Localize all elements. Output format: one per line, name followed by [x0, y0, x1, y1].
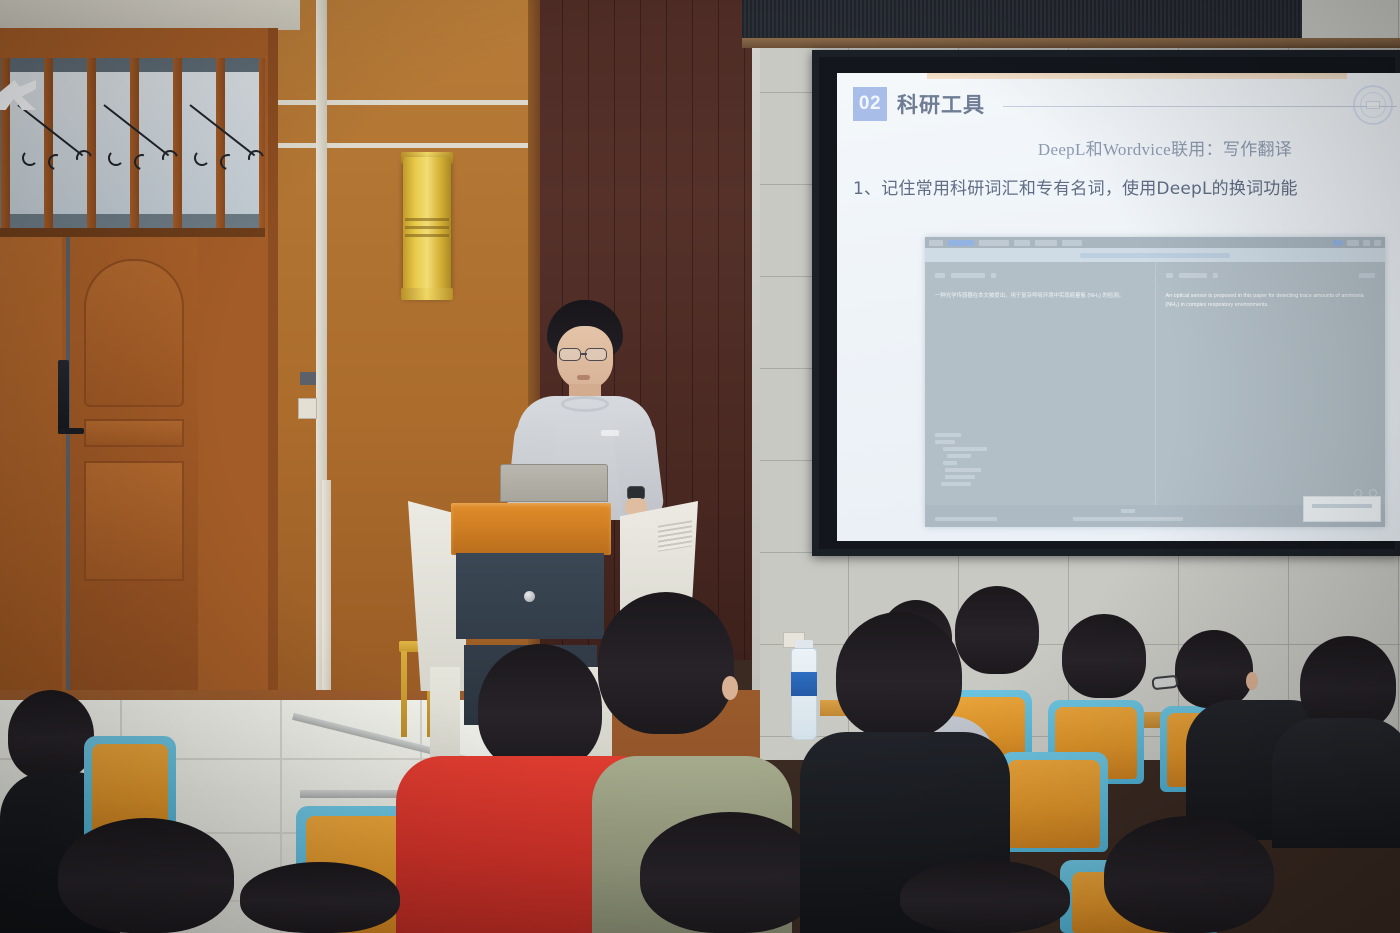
iron-scroll-curl	[108, 150, 124, 166]
transom-mullion	[1, 58, 10, 228]
transom-window	[0, 58, 265, 228]
transom-mullion	[44, 58, 53, 228]
audience-ear	[1246, 672, 1258, 690]
wall-trim-upper	[268, 100, 560, 105]
account-chip[interactable]	[1333, 240, 1343, 246]
slide-bullet-1: 1、记住常用科研词汇和专有名词，使用DeepL的换词功能	[853, 174, 1397, 199]
audience-head	[1062, 614, 1146, 698]
stool-leg-left	[401, 651, 407, 737]
glossary-item-6[interactable]	[941, 482, 971, 486]
grille-frame	[742, 38, 1400, 48]
door-arch-panel	[84, 259, 184, 407]
footer-center-note	[1073, 517, 1183, 521]
ceiling-soffit	[0, 0, 300, 30]
transom-mullion	[259, 58, 265, 228]
target-pane[interactable]: An optical sensor is proposed in this pa…	[1156, 262, 1386, 527]
notice-text	[1080, 253, 1230, 258]
transom-glass-pane	[182, 72, 216, 214]
transom-glass-pane	[139, 72, 173, 214]
iron-scroll-curl	[22, 150, 38, 166]
sweater-collar	[561, 396, 609, 412]
seal-inner-ring	[1360, 92, 1386, 118]
app-footer	[925, 505, 1385, 527]
door-mid-panel	[84, 419, 184, 447]
bottle-label	[791, 672, 817, 696]
sweater-logo	[601, 430, 619, 436]
sconce-band-2	[405, 226, 449, 229]
projection-screen-frame: 02 科研工具 DeepL和Wordvice联用：写作翻译 1、记住常用科研词汇…	[812, 50, 1400, 556]
glossary-item-5[interactable]	[945, 475, 975, 479]
target-language-label	[1179, 273, 1207, 278]
slide-header: 02 科研工具	[853, 87, 1397, 121]
tab-login[interactable]	[1062, 240, 1082, 246]
audience-glasses	[1151, 675, 1178, 691]
door-lower-panel	[84, 461, 184, 581]
room-background: 02 科研工具 DeepL和Wordvice联用：写作翻译 1、记住常用科研词汇…	[0, 0, 1400, 933]
glossary-item-2[interactable]	[947, 454, 971, 458]
deepl-app-screenshot: 一种光学传感器在本文被提出，用于复杂呼吸环境中实现痕量氨 (NH₃) 的检测。	[925, 237, 1385, 527]
presentation-slide: 02 科研工具 DeepL和Wordvice联用：写作翻译 1、记住常用科研词汇…	[837, 73, 1400, 541]
wood-plank	[718, 0, 719, 660]
transom-glass-pane	[96, 72, 130, 214]
audience-jacket	[1272, 718, 1400, 848]
wood-plank	[744, 0, 745, 660]
seat-back[interactable]	[1008, 760, 1100, 848]
door-side-panel	[0, 237, 62, 757]
glossary-suggestions	[935, 433, 1025, 489]
projection-screen: 02 科研工具 DeepL和Wordvice联用：写作翻译 1、记住常用科研词汇…	[837, 73, 1400, 541]
audience-head	[478, 644, 602, 772]
door-header-rail	[0, 228, 265, 237]
chevron-down-icon[interactable]	[991, 273, 996, 278]
app-titlebar	[925, 237, 1385, 248]
target-text: An optical sensor is proposed in this pa…	[1166, 292, 1376, 311]
source-pane[interactable]: 一种光学传感器在本文被提出，用于复杂呼吸环境中实现痕量氨 (NH₃) 的检测。	[925, 262, 1155, 527]
glossary-item-3[interactable]	[943, 461, 957, 465]
translator-body: 一种光学传感器在本文被提出，用于复杂呼吸环境中实现痕量氨 (NH₃) 的检测。	[925, 262, 1385, 527]
transom-glass-pane	[225, 72, 259, 214]
light-switch[interactable]	[298, 398, 317, 419]
audience-head	[1175, 630, 1253, 708]
tab-files[interactable]	[1014, 240, 1030, 246]
slide-subtitle: DeepL和Wordvice联用：写作翻译	[853, 135, 1397, 160]
seal-book-glyph	[1366, 101, 1380, 109]
footer-popup-card[interactable]	[1303, 496, 1381, 522]
transom-mullion	[87, 58, 96, 228]
glossary-item-4[interactable]	[945, 468, 981, 472]
target-language-selector[interactable]	[1166, 270, 1376, 280]
header-rule	[1003, 106, 1397, 107]
glossary-button[interactable]	[1359, 273, 1375, 278]
card-reader[interactable]	[300, 372, 316, 385]
sconce-cap-bottom	[401, 288, 453, 300]
tab-write[interactable]	[979, 240, 1009, 246]
section-number-badge: 02	[853, 87, 887, 121]
wooden-door[interactable]	[66, 237, 198, 757]
glossary-item-1[interactable]	[943, 447, 987, 451]
podium-wood-top	[451, 503, 611, 555]
presenter-glasses-right	[585, 348, 607, 361]
audience-head	[598, 592, 734, 734]
swap-icon[interactable]	[1166, 273, 1173, 278]
wall-trim-lower	[268, 143, 560, 148]
audience-head	[900, 860, 1070, 933]
door-lever[interactable]	[58, 428, 84, 434]
minimize-icon[interactable]	[1347, 240, 1359, 246]
glasses-bridge	[581, 353, 587, 355]
target-chevron-down-icon[interactable]	[1213, 273, 1218, 278]
footer-counter	[1121, 509, 1135, 513]
podium-vents	[658, 520, 692, 551]
slide-section-title: 科研工具	[897, 89, 985, 119]
audience-head	[240, 862, 400, 933]
window-controls	[1333, 240, 1381, 246]
tab-translate[interactable]	[948, 240, 974, 246]
audience-head	[58, 818, 234, 933]
audience-head	[8, 690, 94, 780]
audience-head	[1104, 816, 1274, 933]
transom-mullion	[130, 58, 139, 228]
source-language-label	[951, 273, 985, 278]
app-logo-icon	[929, 240, 943, 246]
transom-mullion	[216, 58, 225, 228]
source-text: 一种光学传感器在本文被提出，用于复杂呼吸环境中实现痕量氨 (NH₃) 的检测。	[935, 292, 1145, 301]
close-icon[interactable]	[1374, 240, 1381, 246]
app-notice-bar	[925, 248, 1385, 262]
glossary-title	[935, 433, 961, 437]
iron-scroll-curl	[194, 150, 210, 166]
tab-glossary[interactable]	[1035, 240, 1057, 246]
popup-text	[1312, 504, 1372, 508]
audience-head	[640, 812, 820, 933]
audience-head	[836, 612, 962, 738]
glossary-sub	[935, 440, 955, 444]
footer-note	[935, 517, 997, 521]
maximize-icon[interactable]	[1363, 240, 1370, 246]
presenter-mouth	[577, 375, 590, 380]
detect-icon	[935, 273, 945, 278]
door-lock-handle[interactable]	[58, 360, 69, 434]
sconce-band-3	[405, 234, 449, 237]
lecture-hall-photo: 02 科研工具 DeepL和Wordvice联用：写作翻译 1、记住常用科研词汇…	[0, 0, 1400, 933]
audience-ear	[722, 676, 738, 700]
transom-mullion	[173, 58, 182, 228]
source-language-selector[interactable]	[935, 270, 1145, 280]
door-frame	[0, 28, 278, 700]
transom-glass-pane	[53, 72, 87, 214]
presenter-glasses-left	[559, 348, 581, 361]
audience-head	[955, 586, 1039, 674]
sconce-band-1	[405, 218, 449, 221]
university-seal-icon	[1353, 85, 1393, 125]
podium-lock-upper[interactable]	[524, 591, 535, 602]
